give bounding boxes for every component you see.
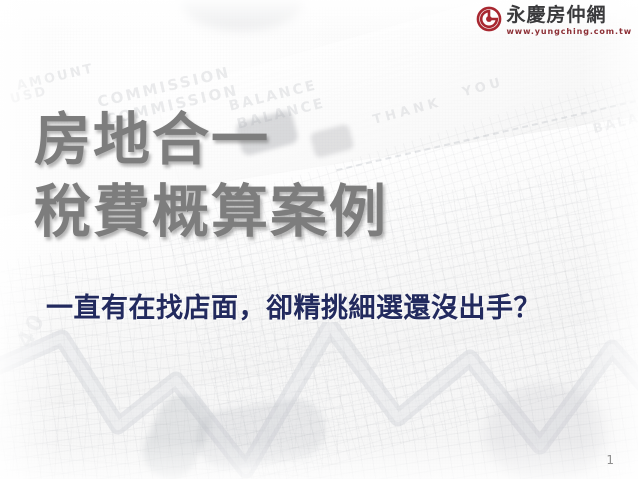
- slide-canvas: AMOUNT USD COMMISSION COMMISSION BALANCE…: [0, 0, 638, 479]
- logo-text-group: 永慶房仲網 www.yungching.com.tw: [507, 5, 633, 37]
- logo-website-url: www.yungching.com.tw: [507, 26, 633, 37]
- logo-brand-name: 永慶房仲網: [507, 5, 607, 25]
- yungching-spiral-mark-icon: [476, 6, 502, 32]
- page-title: 房地合一 稅費概算案例: [34, 104, 594, 248]
- page-number: 1: [606, 453, 614, 467]
- title-line-2: 稅費概算案例: [34, 176, 594, 248]
- page-subtitle: 一直有在找店面，卻精挑細選還沒出手？: [46, 292, 541, 326]
- title-line-1: 房地合一: [34, 104, 594, 176]
- brand-logo[interactable]: 永慶房仲網 www.yungching.com.tw: [476, 5, 633, 37]
